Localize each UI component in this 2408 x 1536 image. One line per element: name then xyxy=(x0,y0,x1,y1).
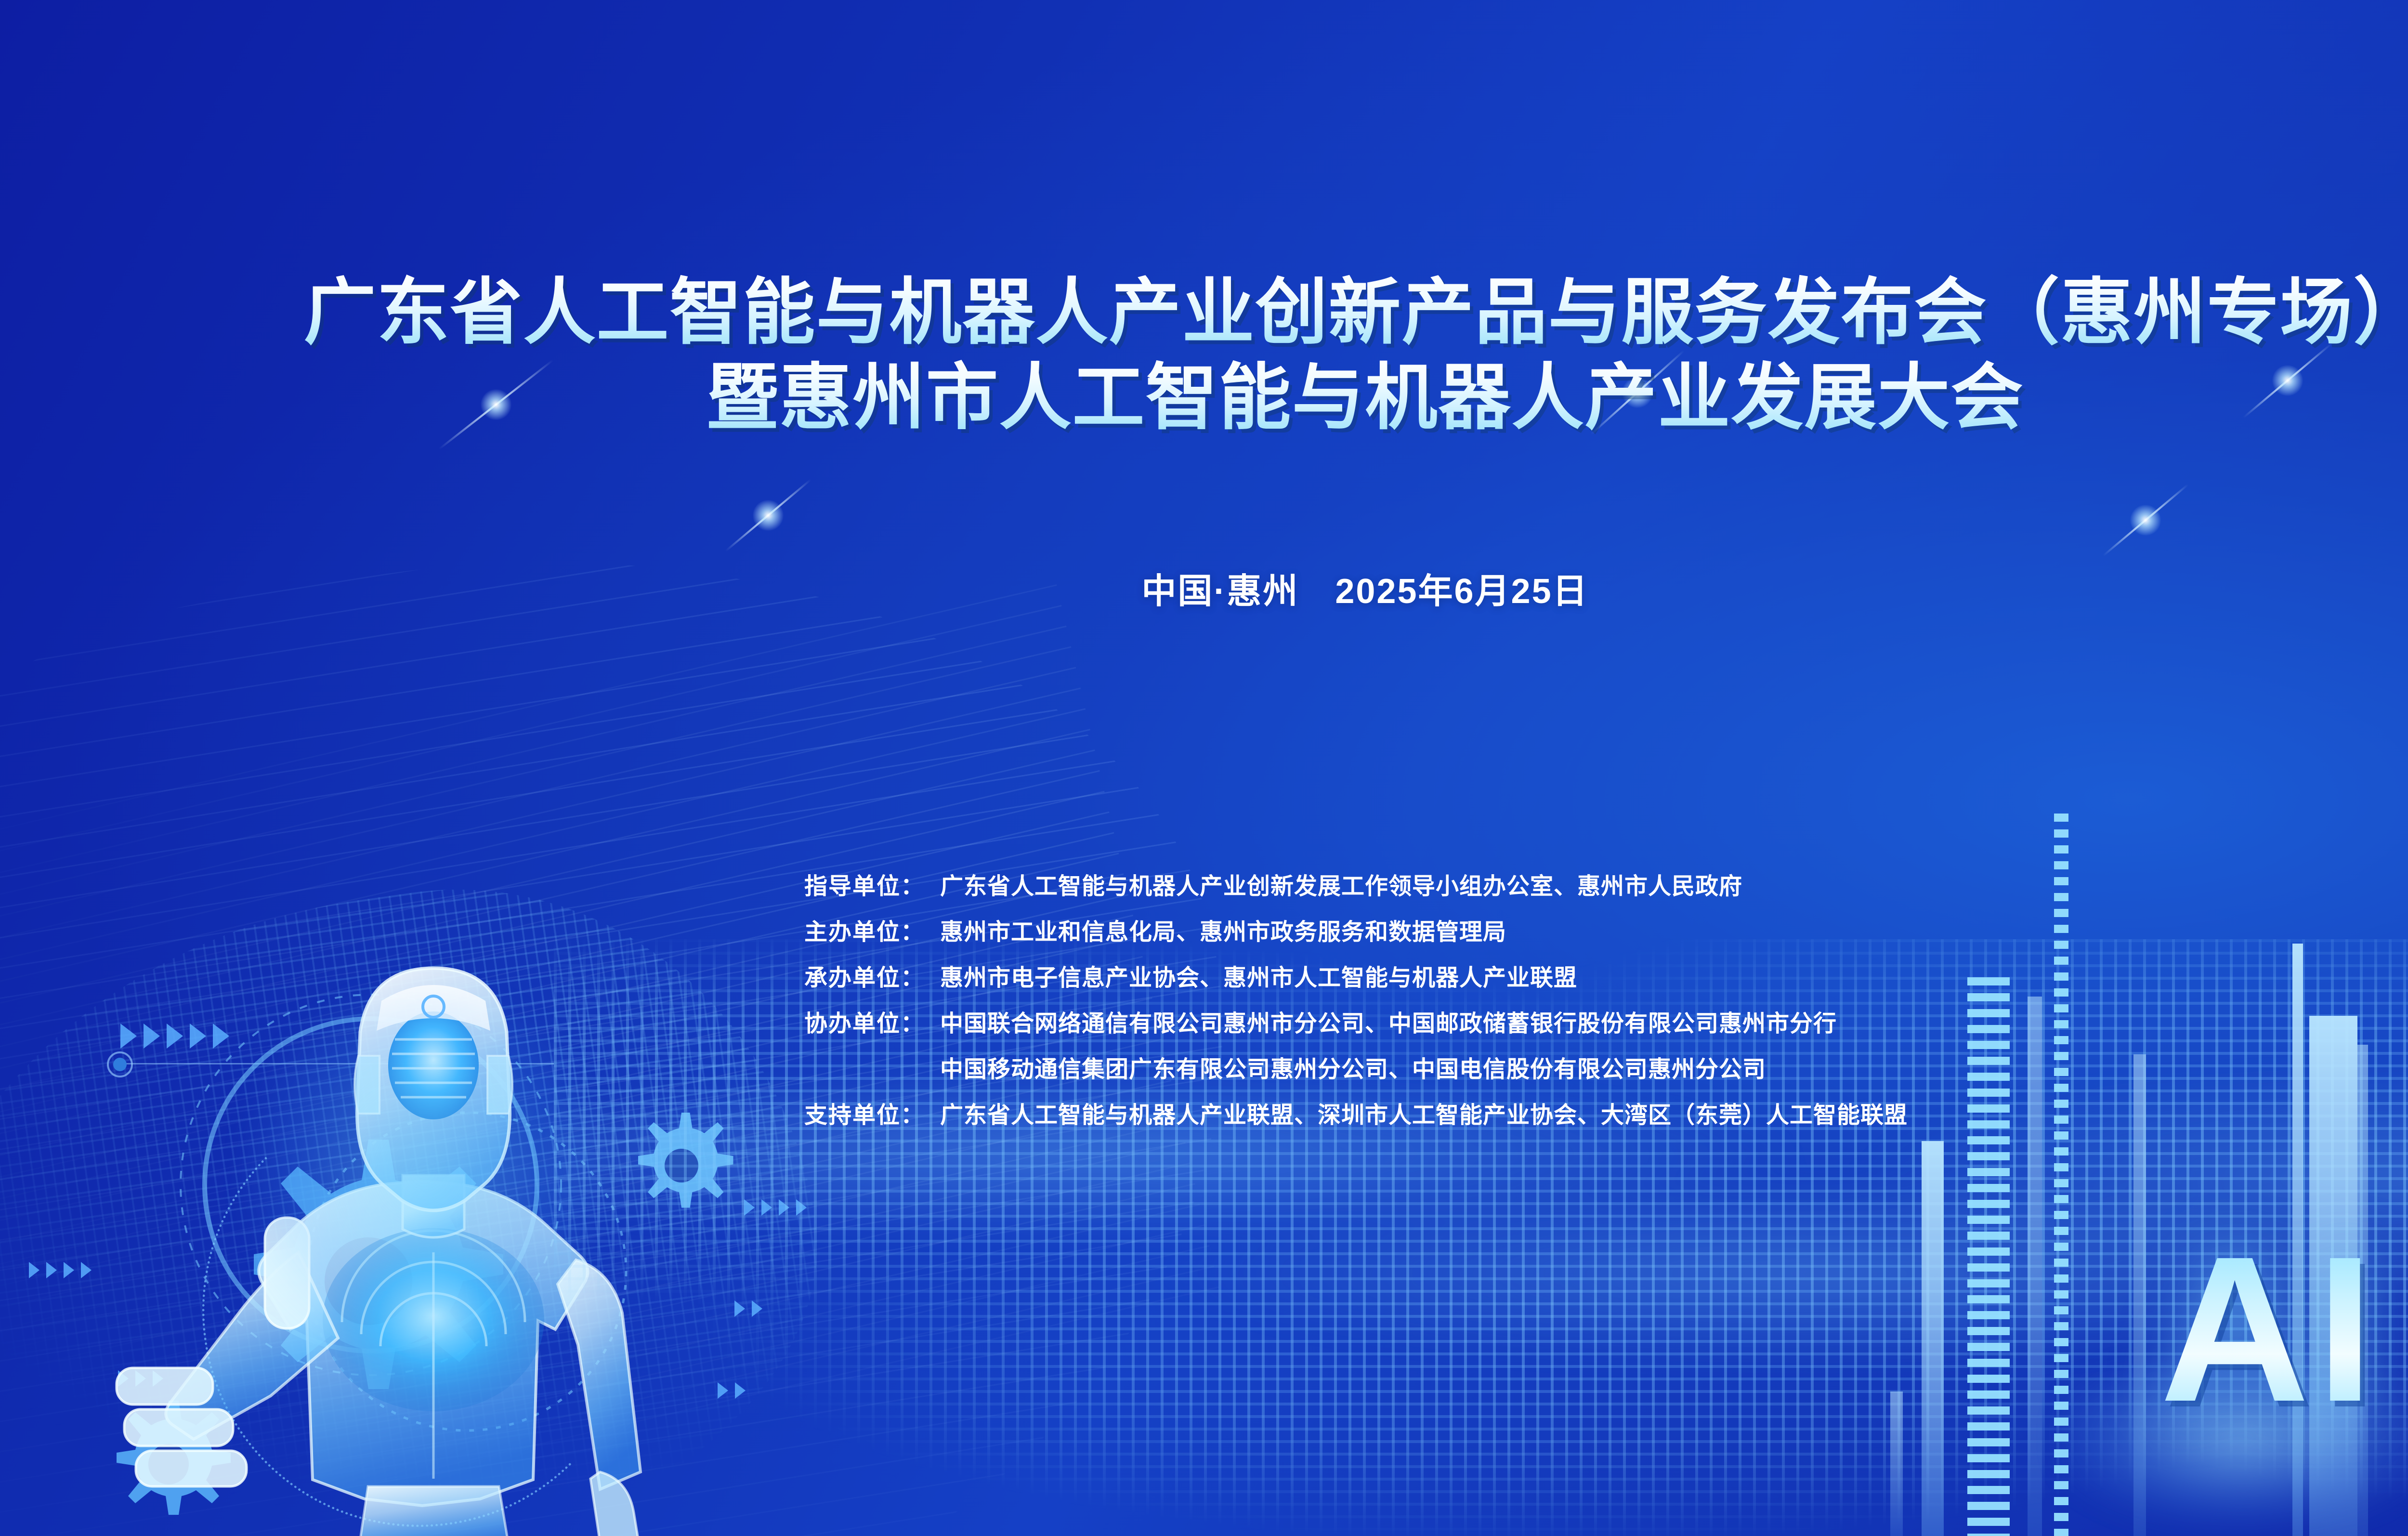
organizer-value: 中国移动通信集团广东有限公司惠州分公司、中国电信股份有限公司惠州分公司 xyxy=(940,1050,1766,1084)
organizer-label: 指导单位： xyxy=(780,867,925,901)
organizer-label: 协办单位： xyxy=(780,1004,925,1038)
organizer-row: 协办单位：中国移动通信集团广东有限公司惠州分公司、中国电信股份有限公司惠州分公司 xyxy=(780,1050,2321,1096)
location-date: 中国·惠州 2025年6月25日 xyxy=(0,563,2408,613)
organizer-row: 承办单位：惠州市电子信息产业协会、惠州市人工智能与机器人产业联盟 xyxy=(780,958,2321,1004)
organizer-value: 中国联合网络通信有限公司惠州市分公司、中国邮政储蓄银行股份有限公司惠州市分行 xyxy=(940,1004,1837,1038)
organizer-list: 指导单位：广东省人工智能与机器人产业创新发展工作领导小组办公室、惠州市人民政府主… xyxy=(780,867,2321,1142)
organizer-row: 指导单位：广东省人工智能与机器人产业创新发展工作领导小组办公室、惠州市人民政府 xyxy=(780,867,2321,913)
title-line-1: 广东省人工智能与机器人产业创新产品与服务发布会（惠州专场） xyxy=(0,270,2408,355)
organizer-row: 主办单位：惠州市工业和信息化局、惠州市政务服务和数据管理局 xyxy=(780,913,2321,958)
organizer-row: 支持单位：广东省人工智能与机器人产业联盟、深圳市人工智能产业协会、大湾区（东莞）… xyxy=(780,1096,2321,1142)
organizer-value: 广东省人工智能与机器人产业联盟、深圳市人工智能产业协会、大湾区（东莞）人工智能联… xyxy=(940,1096,1908,1129)
organizer-value: 惠州市电子信息产业协会、惠州市人工智能与机器人产业联盟 xyxy=(940,958,1577,992)
organizer-row: 协办单位：中国联合网络通信有限公司惠州市分公司、中国邮政储蓄银行股份有限公司惠州… xyxy=(780,1004,2321,1050)
title-block: 广东省人工智能与机器人产业创新产品与服务发布会（惠州专场） 暨惠州市人工智能与机… xyxy=(0,270,2408,440)
organizer-label: 主办单位： xyxy=(780,913,925,946)
ai-logo-text: AI xyxy=(2160,1226,2381,1433)
title-line-2: 暨惠州市人工智能与机器人产业发展大会 xyxy=(0,355,2408,440)
organizer-label: 支持单位： xyxy=(780,1096,925,1129)
lens-flare-sparkle xyxy=(713,482,824,549)
organizer-value: 广东省人工智能与机器人产业创新发展工作领导小组办公室、惠州市人民政府 xyxy=(940,867,1742,901)
organizer-label: 承办单位： xyxy=(780,958,925,992)
organizer-value: 惠州市工业和信息化局、惠州市政务服务和数据管理局 xyxy=(940,913,1506,946)
lens-flare-sparkle xyxy=(2090,486,2201,554)
poster-canvas: AI 广东省人工智能与机器人产业创新产品与服务发布会（惠州专场） 暨惠州市人工智… xyxy=(0,0,2408,1536)
